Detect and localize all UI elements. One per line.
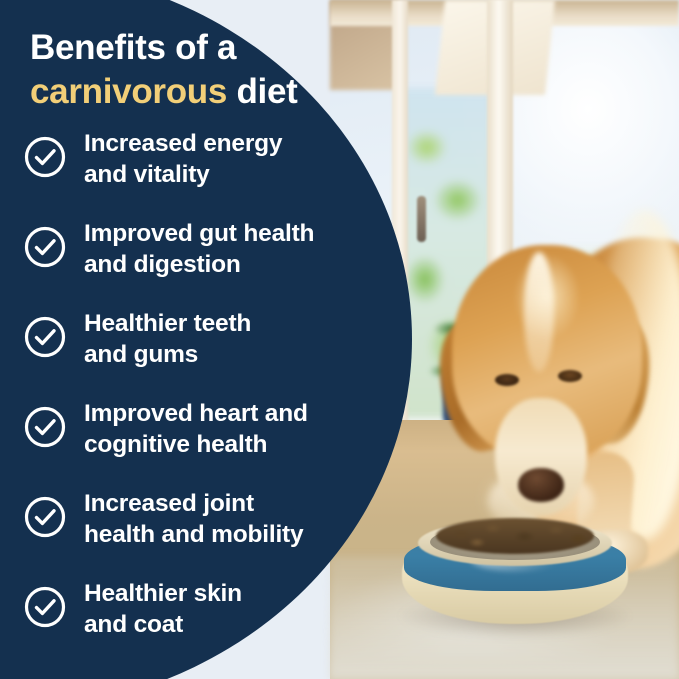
check-circle-icon bbox=[24, 586, 66, 628]
infographic-canvas: Benefits of acarnivorous diet Increased … bbox=[0, 0, 679, 679]
list-item: Improved heart and cognitive health bbox=[24, 403, 384, 493]
benefit-text: Healthier teeth and gums bbox=[84, 309, 384, 370]
check-circle-icon bbox=[24, 316, 66, 358]
check-circle-icon bbox=[24, 136, 66, 178]
list-item: Increased joint health and mobility bbox=[24, 493, 384, 583]
check-circle-icon bbox=[24, 496, 66, 538]
title-line-2-rest: diet bbox=[227, 72, 297, 111]
page-title: Benefits of acarnivorous diet bbox=[30, 26, 370, 114]
title-accent-word: carnivorous bbox=[30, 72, 227, 111]
title-line-1: Benefits of a bbox=[30, 28, 236, 67]
benefit-text: Improved gut health and digestion bbox=[84, 219, 384, 280]
check-circle-icon bbox=[24, 406, 66, 448]
dog-face-blaze bbox=[524, 252, 554, 372]
door-handle bbox=[417, 196, 426, 242]
benefits-list: Increased energy and vitality Improved g… bbox=[24, 133, 384, 673]
benefit-text: Healthier skin and coat bbox=[84, 579, 384, 640]
benefit-text: Increased energy and vitality bbox=[84, 129, 384, 190]
list-item: Improved gut health and digestion bbox=[24, 223, 384, 313]
dog-eye-left bbox=[495, 374, 519, 386]
check-circle-icon bbox=[24, 226, 66, 268]
list-item: Increased energy and vitality bbox=[24, 133, 384, 223]
dog-eye-right bbox=[558, 370, 582, 382]
benefit-text: Improved heart and cognitive health bbox=[84, 399, 384, 460]
list-item: Healthier skin and coat bbox=[24, 583, 384, 673]
benefit-text: Increased joint health and mobility bbox=[84, 489, 384, 550]
kibble-food bbox=[436, 518, 594, 554]
list-item: Healthier teeth and gums bbox=[24, 313, 384, 403]
dog-nose bbox=[518, 468, 564, 502]
content-layer: Benefits of acarnivorous diet Increased … bbox=[0, 0, 400, 679]
